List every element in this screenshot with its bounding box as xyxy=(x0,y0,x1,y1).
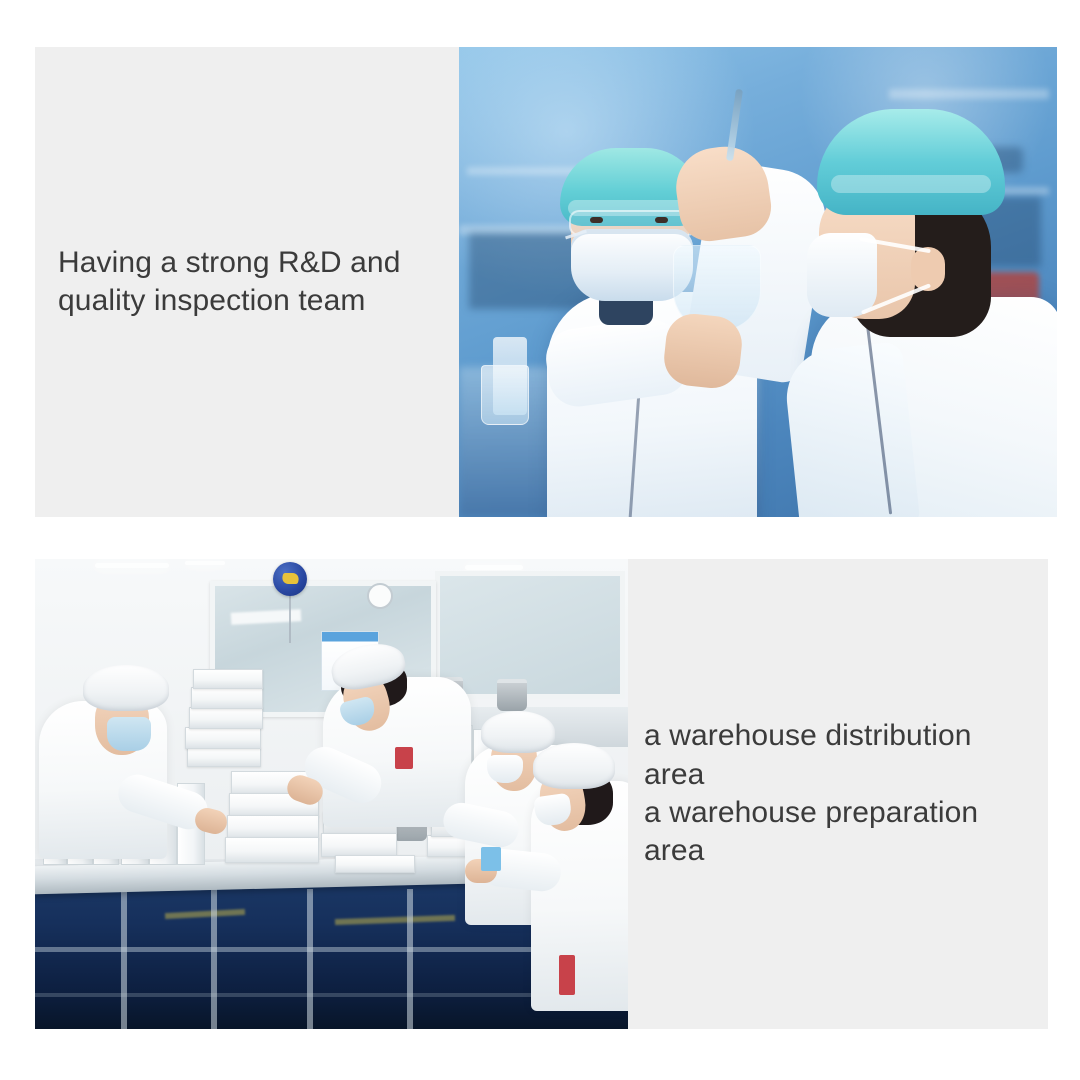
table-leg xyxy=(307,889,313,1029)
carton-box xyxy=(193,669,263,689)
id-tag xyxy=(559,955,575,995)
face-mask-icon xyxy=(487,755,523,783)
face-mask-icon xyxy=(807,233,877,317)
table-leg xyxy=(211,889,217,1029)
bottom-section: a warehouse distribution area a warehous… xyxy=(35,559,1048,1029)
carton-box xyxy=(225,837,319,863)
carton-box xyxy=(321,833,397,857)
wall-clock-icon xyxy=(367,583,393,609)
steel-pot-icon xyxy=(497,679,527,711)
lab-worker-right-shoulder xyxy=(782,341,920,517)
table-leg xyxy=(121,889,127,1029)
beaker-icon xyxy=(481,365,529,425)
top-caption-text: Having a strong R&D and quality inspecti… xyxy=(58,244,400,321)
lab-inspection-photo xyxy=(459,47,1057,517)
carton-box xyxy=(191,687,263,709)
carton-box xyxy=(187,747,261,767)
hair-net-icon xyxy=(83,665,169,711)
warehouse-packing-photo xyxy=(35,559,628,1029)
eye-icon xyxy=(655,217,668,223)
sign-pole xyxy=(289,595,291,643)
lab-shelf-icon xyxy=(889,89,1049,99)
hair-net-icon xyxy=(481,711,555,753)
product-detail-image: Having a strong R&D and quality inspecti… xyxy=(0,0,1080,1080)
glass-partition xyxy=(435,571,625,699)
carton-box xyxy=(335,855,415,873)
bottom-caption-panel: a warehouse distribution area a warehous… xyxy=(628,559,1048,1029)
id-tag xyxy=(481,847,501,871)
eye-icon xyxy=(590,217,603,223)
carton-box xyxy=(227,815,319,839)
hand-icon xyxy=(661,311,744,391)
id-tag xyxy=(395,747,413,769)
table-leg xyxy=(407,889,413,1029)
hair-net-icon xyxy=(533,743,615,789)
carton-box xyxy=(189,707,263,729)
ceiling-light-icon xyxy=(465,565,523,570)
face-mask-icon xyxy=(107,717,151,751)
bottom-caption-text: a warehouse distribution area a warehous… xyxy=(644,717,1040,871)
ceiling-light-icon xyxy=(95,563,169,568)
top-caption-panel: Having a strong R&D and quality inspecti… xyxy=(35,47,459,517)
ceiling-light-icon xyxy=(185,561,225,565)
carton-box xyxy=(185,727,261,749)
ceiling-sign-icon xyxy=(273,562,307,596)
top-section: Having a strong R&D and quality inspecti… xyxy=(35,47,1057,517)
